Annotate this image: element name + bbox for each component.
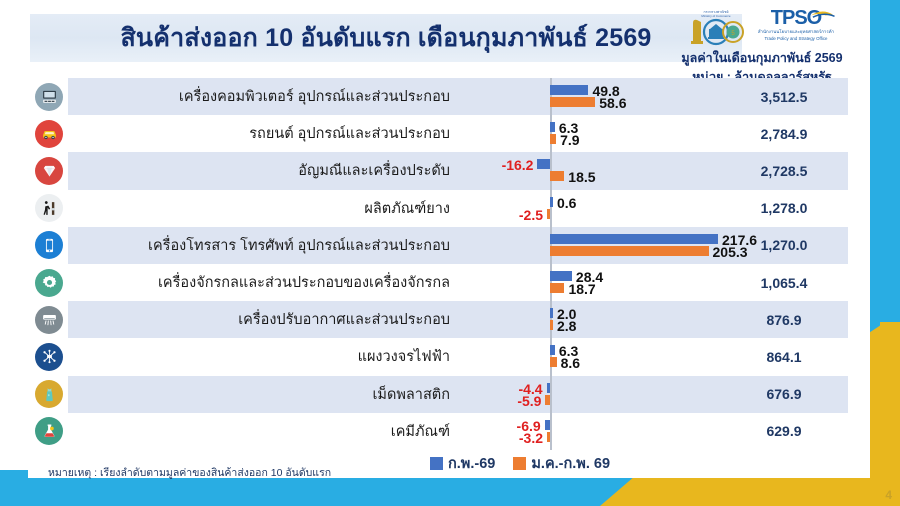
bar-series1 (550, 234, 718, 244)
legend-label-series1: ก.พ.-69 (448, 452, 495, 475)
bar-series1 (550, 345, 555, 355)
bar-series2 (545, 395, 550, 405)
category-label: ผลิตภัณฑ์ยาง (68, 197, 460, 220)
bar-value-label: 58.6 (599, 96, 626, 110)
chemical-flask-icon (35, 417, 63, 445)
row-icon-cell (30, 269, 68, 297)
row-icon-cell (30, 83, 68, 111)
bar-series1 (547, 383, 550, 393)
bar-value-label: 2.8 (557, 319, 576, 333)
bar-plot-cell: 49.858.6 (460, 78, 720, 115)
plastic-pellets-icon (35, 380, 63, 408)
bar-plot-cell: -4.4-5.9 (460, 376, 720, 413)
bar-value-label: -5.9 (517, 394, 541, 408)
bar-series1 (550, 271, 572, 281)
row-icon-cell (30, 343, 68, 371)
chart-row: เครื่องคอมพิวเตอร์ อุปกรณ์และส่วนประกอบ4… (30, 78, 848, 115)
export-value: 676.9 (720, 386, 848, 402)
rubber-tapping-icon (35, 194, 63, 222)
row-icon-cell (30, 194, 68, 222)
bar-plot-cell: -16.218.5 (460, 152, 720, 189)
bar-series1 (545, 420, 550, 430)
title-bar: สินค้าส่งออก 10 อันดับแรก เดือนกุมภาพันธ… (30, 14, 742, 62)
bar-plot-cell: 217.6205.3 (460, 227, 720, 264)
bar-value-label: 18.7 (568, 282, 595, 296)
ministry-100-years-logo: กระทรวงพาณิชย์ Ministry of Commerce 5 (685, 7, 747, 47)
row-icon-cell (30, 380, 68, 408)
export-value: 1,270.0 (720, 237, 848, 253)
bar-series2 (550, 171, 564, 181)
chart-row: เม็ดพลาสติก-4.4-5.9676.9 (30, 376, 848, 413)
gear-icon (35, 269, 63, 297)
logo-block: กระทรวงพาณิชย์ Ministry of Commerce 5 TP… (672, 6, 852, 86)
zero-axis-line (550, 413, 552, 450)
row-icon-cell (30, 157, 68, 185)
bar-series1 (537, 159, 550, 169)
category-label: เครื่องจักรกลและส่วนประกอบของเครื่องจักร… (68, 271, 460, 294)
category-label: เคมีภัณฑ์ (68, 420, 460, 443)
row-icon-cell (30, 120, 68, 148)
car-icon (35, 120, 63, 148)
bar-value-label: 8.6 (561, 356, 580, 370)
export-value: 1,278.0 (720, 200, 848, 216)
bar-value-label: 0.6 (557, 196, 576, 210)
chart-row: เครื่องจักรกลและส่วนประกอบของเครื่องจักร… (30, 264, 848, 301)
zero-axis-line (550, 376, 552, 413)
row-icon-cell (30, 231, 68, 259)
svg-text:Ministry of Commerce: Ministry of Commerce (701, 14, 731, 18)
tpso-caption-en: Trade Policy and Strategy Office (753, 36, 839, 42)
bar-value-label: -16.2 (502, 158, 534, 172)
slide-canvas: 4 สินค้าส่งออก 10 อันดับแรก เดือนกุมภาพั… (0, 0, 900, 506)
legend-item-series2: ม.ค.-ก.พ. 69 (513, 452, 610, 475)
bar-series2 (550, 134, 556, 144)
tpso-caption-th: สำนักงานนโยบายและยุทธศาสตร์การค้า (753, 29, 839, 35)
bar-plot-cell: 2.02.8 (460, 301, 720, 338)
bar-series2 (550, 283, 564, 293)
export-value: 864.1 (720, 349, 848, 365)
export-value: 876.9 (720, 312, 848, 328)
bar-plot-cell: 6.38.6 (460, 338, 720, 375)
category-label: รถยนต์ อุปกรณ์และส่วนประกอบ (68, 122, 460, 145)
bar-plot-cell: 6.37.9 (460, 115, 720, 152)
bar-value-label: -2.5 (519, 208, 543, 222)
zero-axis-line (550, 190, 552, 227)
bar-plot-cell: 0.6-2.5 (460, 190, 720, 227)
legend-swatch-series2 (513, 457, 526, 470)
chart-row: เคมีภัณฑ์-6.9-3.2629.9 (30, 413, 848, 450)
category-label: เม็ดพลาสติก (68, 383, 460, 406)
smartphone-icon (35, 231, 63, 259)
computer-icon (35, 83, 63, 111)
gem-icon (35, 157, 63, 185)
bar-series2 (550, 320, 553, 330)
chart-footnote: หมายเหตุ : เรียงลำดับตามมูลค่าของสินค้าส… (48, 464, 331, 481)
page-title: สินค้าส่งออก 10 อันดับแรก เดือนกุมภาพันธ… (120, 18, 651, 58)
category-label: แผงวงจรไฟฟ้า (68, 345, 460, 368)
bar-series1 (550, 308, 553, 318)
export-value: 1,065.4 (720, 275, 848, 291)
circuit-board-icon (35, 343, 63, 371)
chart-row: รถยนต์ อุปกรณ์และส่วนประกอบ6.37.92,784.9 (30, 115, 848, 152)
page-number: 4 (885, 488, 892, 502)
chart-row: เครื่องโทรสาร โทรศัพท์ อุปกรณ์และส่วนประ… (30, 227, 848, 264)
air-conditioner-icon (35, 306, 63, 334)
export-value: 629.9 (720, 423, 848, 439)
bar-series1 (550, 85, 588, 95)
legend-swatch-series1 (430, 457, 443, 470)
bar-series2 (547, 209, 550, 219)
tpso-logo: TPSO สำนักงานนโยบายและยุทธศาสตร์การค้า T… (753, 8, 839, 46)
export-ranking-chart: เครื่องคอมพิวเตอร์ อุปกรณ์และส่วนประกอบ4… (30, 78, 848, 450)
category-label: เครื่องปรับอากาศและส่วนประกอบ (68, 308, 460, 331)
legend-label-series2: ม.ค.-ก.พ. 69 (531, 452, 610, 475)
bar-value-label: -3.2 (519, 431, 543, 445)
category-label: เครื่องโทรสาร โทรศัพท์ อุปกรณ์และส่วนประ… (68, 234, 460, 257)
bar-series1 (550, 197, 553, 207)
chart-row: แผงวงจรไฟฟ้า6.38.6864.1 (30, 338, 848, 375)
bar-plot-cell: 28.418.7 (460, 264, 720, 301)
bar-value-label: 18.5 (568, 170, 595, 184)
legend-item-series1: ก.พ.-69 (430, 452, 495, 475)
value-caption-line1: มูลค่าในเดือนกุมภาพันธ์ 2569 (672, 50, 852, 67)
row-icon-cell (30, 306, 68, 334)
export-value: 3,512.5 (720, 89, 848, 105)
bar-series2 (547, 432, 550, 442)
right-edge-cyan-band (870, 0, 900, 332)
category-label: เครื่องคอมพิวเตอร์ อุปกรณ์และส่วนประกอบ (68, 85, 460, 108)
bar-series2 (550, 246, 709, 256)
chart-legend: ก.พ.-69 ม.ค.-ก.พ. 69 (430, 452, 610, 475)
bar-value-label: 7.9 (560, 133, 579, 147)
bar-plot-cell: -6.9-3.2 (460, 413, 720, 450)
category-label: อัญมณีและเครื่องประดับ (68, 159, 460, 182)
row-icon-cell (30, 417, 68, 445)
chart-row: อัญมณีและเครื่องประดับ-16.218.52,728.5 (30, 152, 848, 189)
export-value: 2,728.5 (720, 163, 848, 179)
chart-row: เครื่องปรับอากาศและส่วนประกอบ2.02.8876.9 (30, 301, 848, 338)
chart-row: ผลิตภัณฑ์ยาง0.6-2.51,278.0 (30, 190, 848, 227)
export-value: 2,784.9 (720, 126, 848, 142)
bar-series1 (550, 122, 555, 132)
bar-series2 (550, 357, 557, 367)
bar-series2 (550, 97, 595, 107)
